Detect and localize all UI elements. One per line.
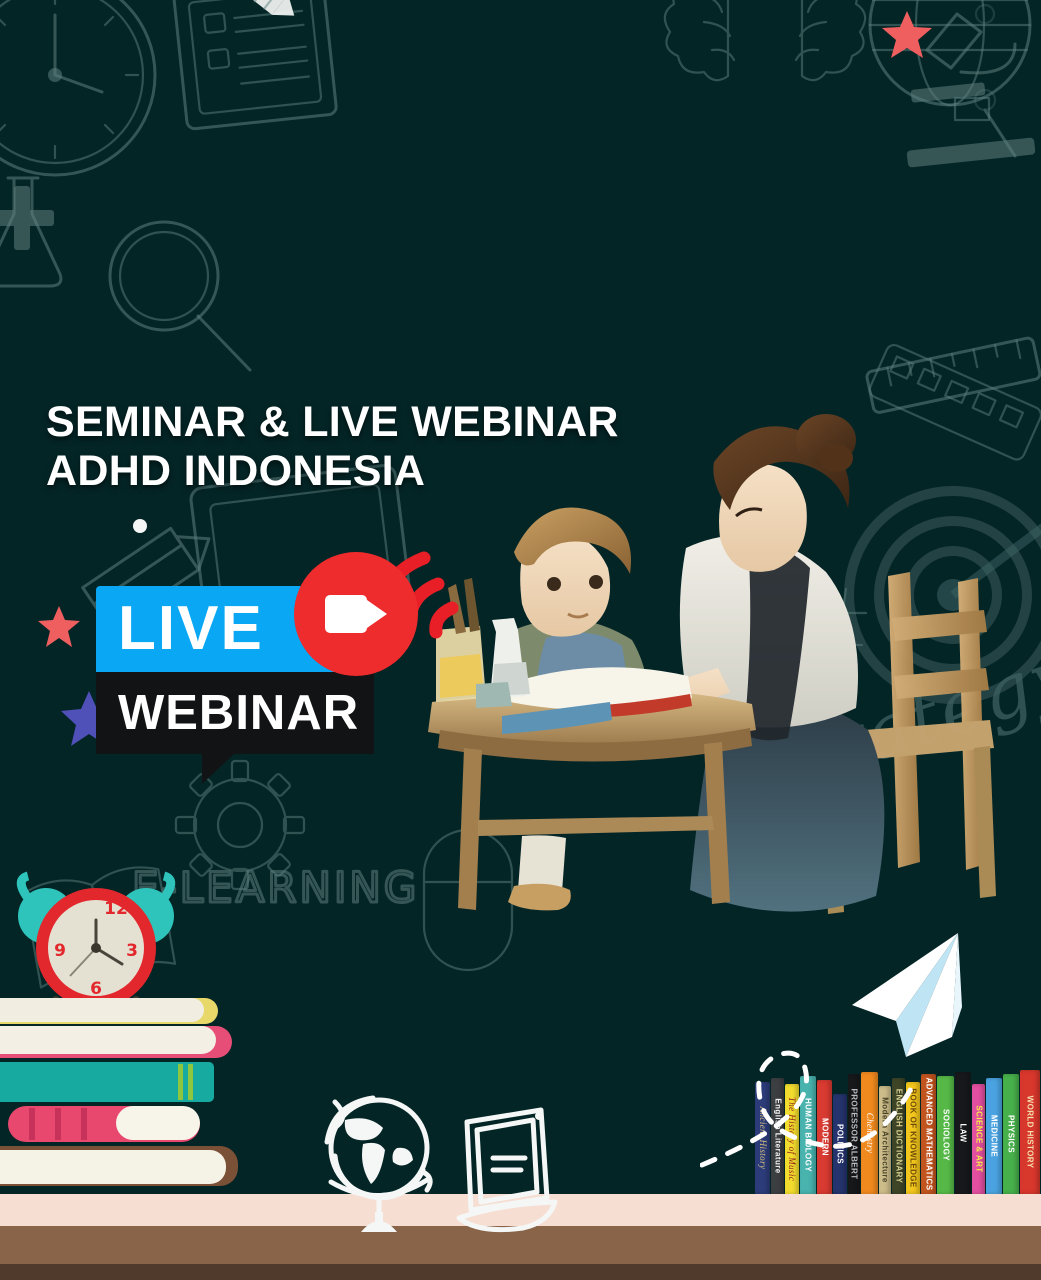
camera-body (325, 595, 367, 633)
brain-outline-icon (660, 0, 870, 90)
record-button[interactable] (294, 552, 418, 676)
live-webinar-badge[interactable]: LIVE WEBINAR (96, 586, 374, 754)
stack-book-5 (0, 1146, 238, 1186)
microscope-outline-icon (865, 0, 1041, 192)
star-icon (880, 8, 934, 62)
magnifier-outline-icon (72, 210, 272, 390)
stack-book-3 (0, 1062, 214, 1102)
pencil-outline-icon (185, 0, 315, 64)
plane-body (852, 933, 962, 1057)
webinar-label: WEBINAR (118, 689, 359, 738)
clock-outline-icon (0, 0, 170, 190)
camera-lens (367, 600, 387, 628)
tablet-on-stand (445, 1086, 565, 1236)
stack-book-1 (0, 998, 218, 1024)
headline-line-1: SEMINAR & LIVE WEBINAR (46, 398, 619, 446)
plus-outline-icon (0, 178, 62, 258)
book-stack (0, 994, 256, 1194)
svg-text:9: 9 (54, 941, 66, 961)
video-camera-icon (325, 595, 387, 633)
stack-book-2 (0, 1026, 232, 1058)
ink-pot (476, 682, 512, 708)
stack-book-4 (8, 1106, 200, 1142)
seminar-webinar-poster: E-LEARNING Strategy (0, 0, 1041, 1280)
woman (615, 414, 884, 912)
webinar-bar[interactable]: WEBINAR (96, 672, 374, 754)
speech-bubble-tail (202, 752, 236, 784)
globe-outline-icon (855, 0, 1041, 120)
page-title: SEMINAR & LIVE WEBINAR ADHD INDONESIA (46, 398, 619, 496)
headline-line-2: ADHD INDONESIA (46, 447, 619, 496)
star-icon-red (36, 604, 82, 650)
live-label: LIVE (118, 598, 264, 660)
clipboard-outline-icon (168, 0, 358, 142)
flask-outline-icon (0, 160, 90, 300)
svg-text:3: 3 (126, 941, 138, 961)
shelf-shadow (0, 1264, 1041, 1280)
svg-text:12: 12 (104, 899, 128, 919)
globe-on-stand (305, 1086, 455, 1236)
paper-plane-icon (700, 915, 1041, 1185)
